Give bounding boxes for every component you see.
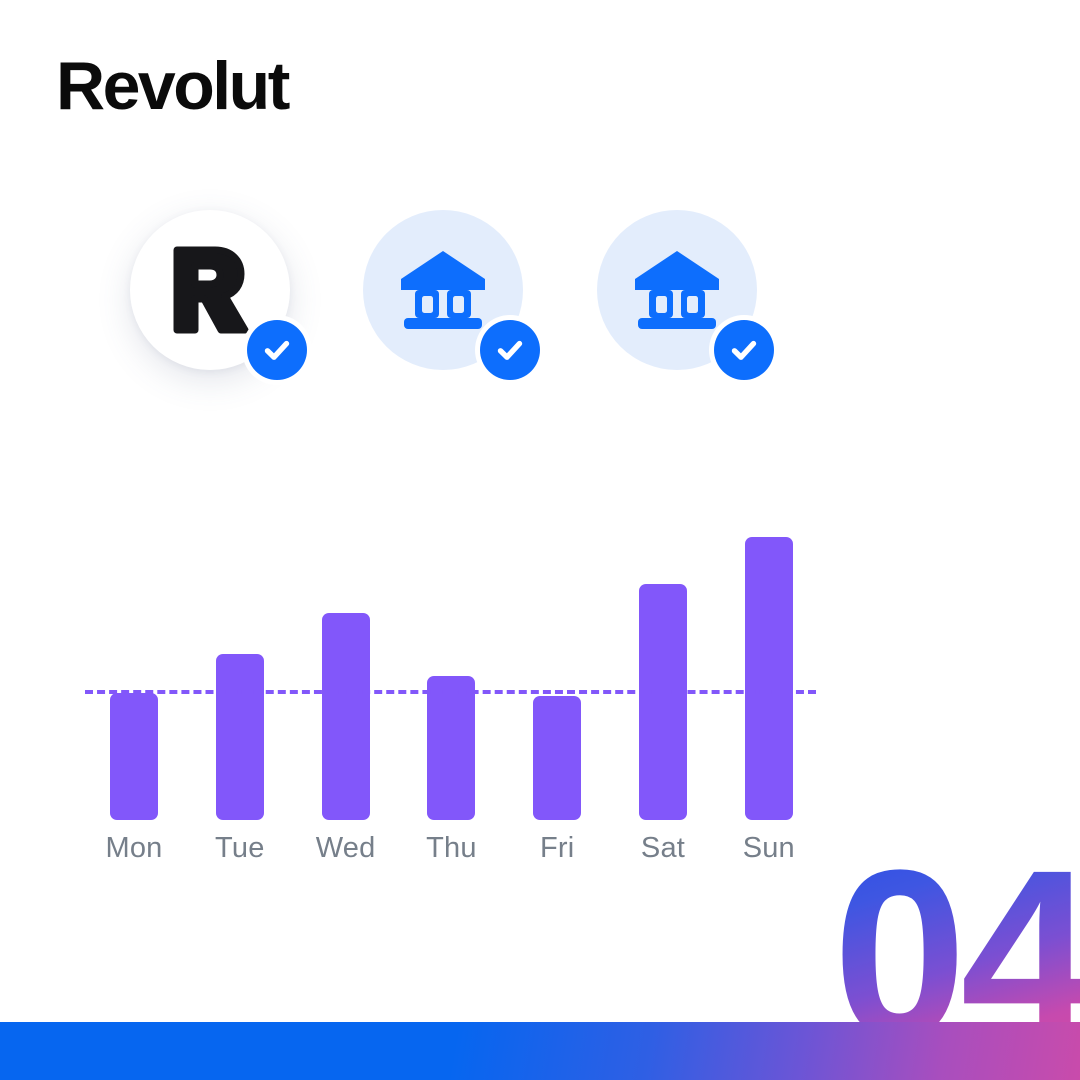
chart-axis-label: Tue: [195, 832, 285, 865]
account-badge-bank-1[interactable]: [363, 210, 523, 370]
account-badge-revolut[interactable]: [130, 210, 290, 370]
chart-threshold-line: [85, 690, 816, 694]
chart-axis-label: Sun: [724, 832, 814, 865]
account-badge-bank-2[interactable]: [597, 210, 757, 370]
verified-accounts-group: [0, 0, 1080, 480]
chart-axis-label: Sat: [618, 832, 708, 865]
chart-bar: [216, 654, 264, 820]
chart-axis-label: Mon: [89, 832, 179, 865]
check-icon: [247, 320, 307, 380]
chart-plot-area: [85, 520, 825, 820]
chart-x-axis-labels: MonTueWedThuFriSatSun: [85, 832, 825, 878]
verified-check-badge: [475, 315, 545, 385]
check-icon: [714, 320, 774, 380]
chart-bar: [427, 676, 475, 820]
chart-bar: [745, 537, 793, 820]
chart-axis-label: Thu: [406, 832, 496, 865]
chart-bar: [639, 584, 687, 820]
chart-axis-label: Fri: [512, 832, 602, 865]
verified-check-badge: [242, 315, 312, 385]
chart-bar: [110, 693, 158, 820]
chart-axis-label: Wed: [301, 832, 391, 865]
bottom-accent-bar: [0, 1022, 1080, 1080]
verified-check-badge: [709, 315, 779, 385]
chart-bar: [533, 696, 581, 820]
chart-bar: [322, 613, 370, 820]
check-icon: [480, 320, 540, 380]
social-card-canvas: Revolut: [0, 0, 1080, 1080]
